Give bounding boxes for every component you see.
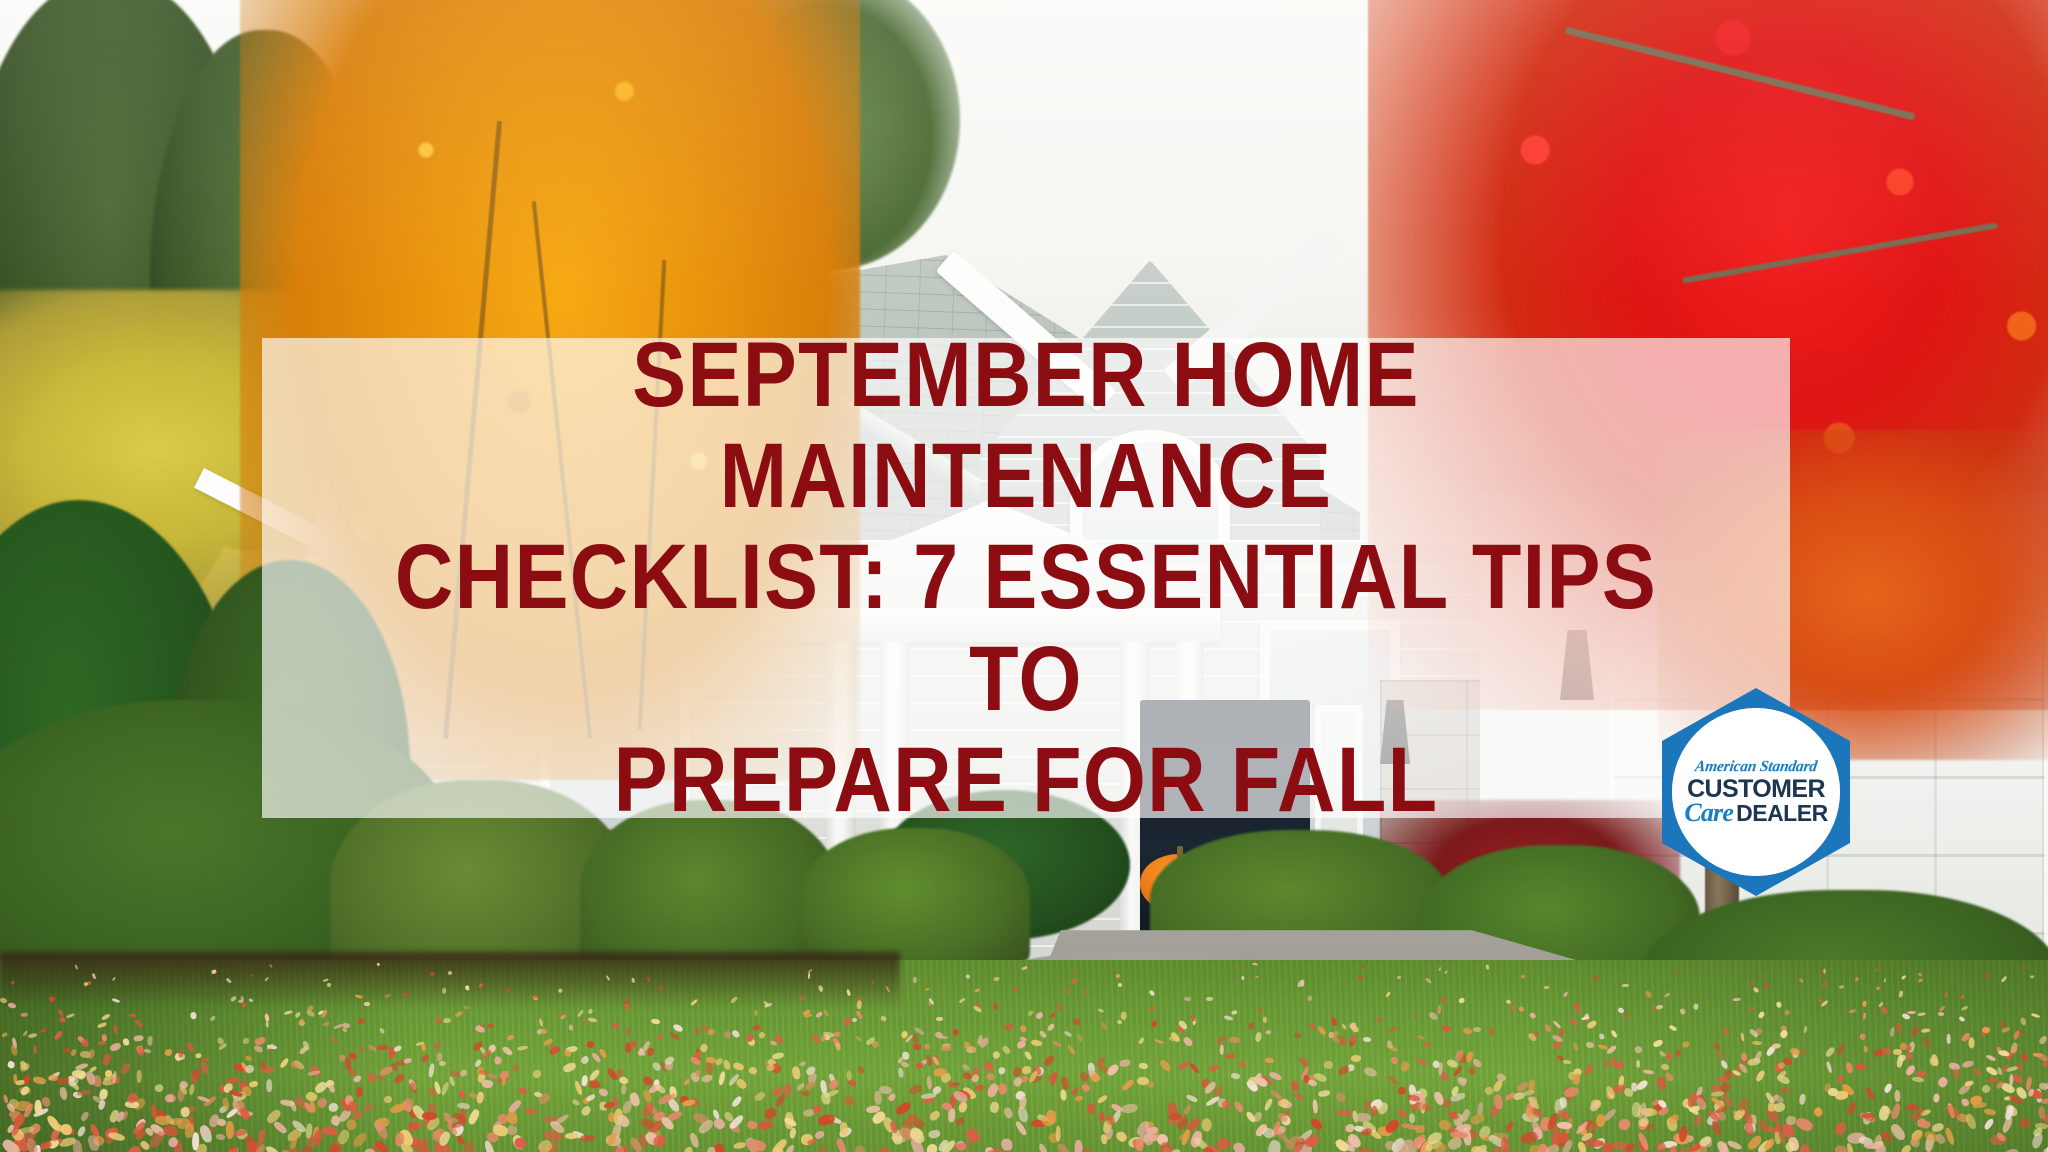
hero-banner: SEPTEMBER HOME MAINTENANCE CHECKLIST: 7 … [0, 0, 2048, 1152]
american-standard-customer-care-dealer-badge[interactable]: BUILT TO A HIGHER STANDARD HEATING & AIR… [1650, 686, 1862, 898]
badge-row-care-dealer: Care DEALER [1684, 800, 1827, 826]
badge-brand-script: American Standard [1694, 758, 1818, 776]
title-overlay-panel: SEPTEMBER HOME MAINTENANCE CHECKLIST: 7 … [262, 338, 1790, 818]
badge-inner-lockup: American Standard CUSTOMER Care DEALER [1674, 710, 1838, 874]
badge-word-dealer: DEALER [1736, 802, 1828, 825]
page-title: SEPTEMBER HOME MAINTENANCE CHECKLIST: 7 … [354, 325, 1699, 831]
badge-word-care: Care [1684, 800, 1733, 826]
